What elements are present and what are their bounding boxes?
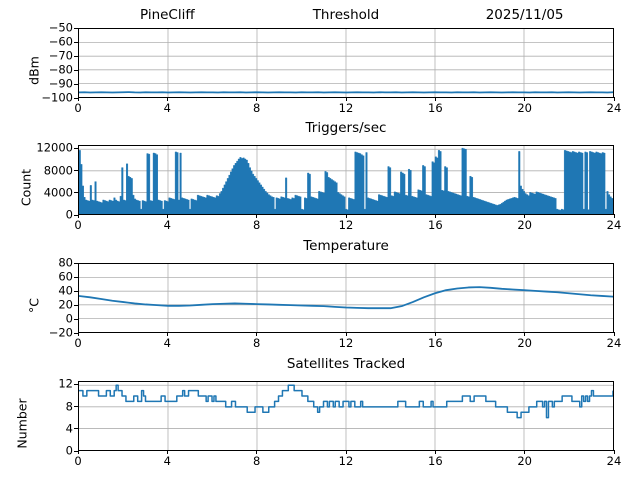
- y-tick-label: −80: [49, 65, 73, 76]
- x-tick-mark: [614, 332, 615, 336]
- y-tick-labels-number: 04812: [3, 381, 73, 451]
- y-tick-label: 4: [66, 423, 73, 434]
- x-tick-label: 4: [164, 454, 171, 468]
- x-tick-label: 12: [339, 336, 354, 350]
- y-tick-mark: [74, 192, 78, 193]
- y-tick-mark: [74, 263, 78, 264]
- x-tick-label: 24: [607, 218, 622, 232]
- y-tick-label: 0: [66, 210, 73, 221]
- x-tick-label: 20: [517, 218, 532, 232]
- y-tick-mark: [74, 277, 78, 278]
- x-tick-mark: [346, 214, 347, 218]
- y-tick-label: 40: [58, 286, 73, 297]
- y-tick-mark: [74, 28, 78, 29]
- y-tick-label: 4000: [44, 187, 73, 198]
- x-tick-mark: [346, 332, 347, 336]
- y-axis-label-celsius: °C: [27, 266, 42, 346]
- y-tick-label: 8: [66, 401, 73, 412]
- y-axis-label-dbm: dBm: [27, 31, 42, 111]
- x-tick-mark: [435, 97, 436, 101]
- y-tick-label: 12: [58, 379, 73, 390]
- x-tick-mark: [78, 450, 79, 454]
- x-tick-mark: [256, 332, 257, 336]
- x-tick-label: 4: [164, 218, 171, 232]
- x-tick-mark: [435, 450, 436, 454]
- y-tick-mark: [74, 170, 78, 171]
- x-tick-label: 16: [428, 101, 443, 115]
- y-tick-mark: [74, 42, 78, 43]
- y-tick-label: −60: [49, 37, 73, 48]
- y-tick-label: 20: [58, 300, 73, 311]
- y-tick-label: 0: [66, 446, 73, 457]
- y-tick-mark: [74, 428, 78, 429]
- x-tick-label: 24: [607, 454, 622, 468]
- suptitle-station: PineCliff: [78, 7, 257, 23]
- panel-title-temperature: Temperature: [78, 238, 614, 254]
- x-tick-labels-signal: 04812162024: [78, 101, 614, 117]
- x-tick-mark: [346, 450, 347, 454]
- y-tick-mark: [74, 70, 78, 71]
- y-tick-label: 80: [58, 258, 73, 269]
- plot-area-triggers: [78, 145, 614, 215]
- figure-suptitle: PineCliff Threshold 2025/11/05: [78, 5, 614, 25]
- x-tick-label: 16: [428, 336, 443, 350]
- plot-area-satellites: [78, 381, 614, 451]
- x-tick-label: 0: [74, 101, 81, 115]
- x-tick-mark: [524, 97, 525, 101]
- x-tick-label: 12: [339, 454, 354, 468]
- x-tick-label: 16: [428, 218, 443, 232]
- x-tick-label: 24: [607, 101, 622, 115]
- x-tick-label: 0: [74, 454, 81, 468]
- y-tick-label: 0: [66, 314, 73, 325]
- x-tick-mark: [614, 450, 615, 454]
- suptitle-date: 2025/11/05: [435, 7, 614, 23]
- y-tick-mark: [74, 291, 78, 292]
- y-axis-label-number: Number: [15, 384, 30, 464]
- x-tick-label: 20: [517, 454, 532, 468]
- x-tick-label: 8: [253, 218, 260, 232]
- suptitle-mode: Threshold: [257, 7, 436, 23]
- y-tick-mark: [74, 406, 78, 407]
- x-tick-labels-temperature: 04812162024: [78, 336, 614, 352]
- x-tick-mark: [614, 214, 615, 218]
- figure-canvas: PineCliff Threshold 2025/11/05 −100−90−8…: [0, 0, 640, 480]
- x-tick-label: 12: [339, 218, 354, 232]
- x-tick-label: 0: [74, 336, 81, 350]
- y-tick-mark: [74, 384, 78, 385]
- x-tick-mark: [78, 97, 79, 101]
- x-tick-mark: [524, 450, 525, 454]
- x-tick-mark: [524, 332, 525, 336]
- y-tick-label: −70: [49, 51, 73, 62]
- x-tick-label: 20: [517, 336, 532, 350]
- y-tick-label: 60: [58, 272, 73, 283]
- x-tick-label: 24: [607, 336, 622, 350]
- x-tick-mark: [346, 97, 347, 101]
- y-tick-mark: [74, 148, 78, 149]
- x-tick-mark: [78, 214, 79, 218]
- plot-area-signal: [78, 28, 614, 98]
- x-tick-mark: [524, 214, 525, 218]
- panel-title-satellites: Satellites Tracked: [78, 356, 614, 372]
- y-tick-mark: [74, 305, 78, 306]
- x-tick-labels-triggers: 04812162024: [78, 218, 614, 234]
- x-tick-label: 4: [164, 101, 171, 115]
- y-tick-mark: [74, 319, 78, 320]
- panel-title-triggers: Triggers/sec: [78, 120, 614, 136]
- y-tick-label: −50: [49, 23, 73, 34]
- x-tick-mark: [167, 332, 168, 336]
- x-tick-mark: [167, 97, 168, 101]
- y-tick-label: 8000: [44, 165, 73, 176]
- x-tick-mark: [256, 450, 257, 454]
- x-tick-labels-satellites: 04812162024: [78, 454, 614, 470]
- x-tick-label: 8: [253, 336, 260, 350]
- x-tick-mark: [435, 214, 436, 218]
- x-tick-label: 12: [339, 101, 354, 115]
- plot-area-temperature: [78, 263, 614, 333]
- x-tick-mark: [78, 332, 79, 336]
- x-tick-label: 8: [253, 101, 260, 115]
- x-tick-mark: [256, 97, 257, 101]
- y-tick-label: −20: [49, 328, 73, 339]
- y-tick-label: −100: [41, 93, 73, 104]
- x-tick-mark: [614, 97, 615, 101]
- x-tick-mark: [167, 214, 168, 218]
- x-tick-label: 4: [164, 336, 171, 350]
- y-axis-label-count: Count: [19, 148, 34, 228]
- y-tick-mark: [74, 56, 78, 57]
- y-tick-label: 12000: [36, 143, 73, 154]
- x-tick-label: 20: [517, 101, 532, 115]
- x-tick-label: 16: [428, 454, 443, 468]
- x-tick-label: 8: [253, 454, 260, 468]
- y-tick-labels-count: 04000800012000: [3, 145, 73, 215]
- x-tick-label: 0: [74, 218, 81, 232]
- y-tick-label: −90: [49, 79, 73, 90]
- x-tick-mark: [256, 214, 257, 218]
- x-tick-mark: [435, 332, 436, 336]
- x-tick-mark: [167, 450, 168, 454]
- y-tick-mark: [74, 84, 78, 85]
